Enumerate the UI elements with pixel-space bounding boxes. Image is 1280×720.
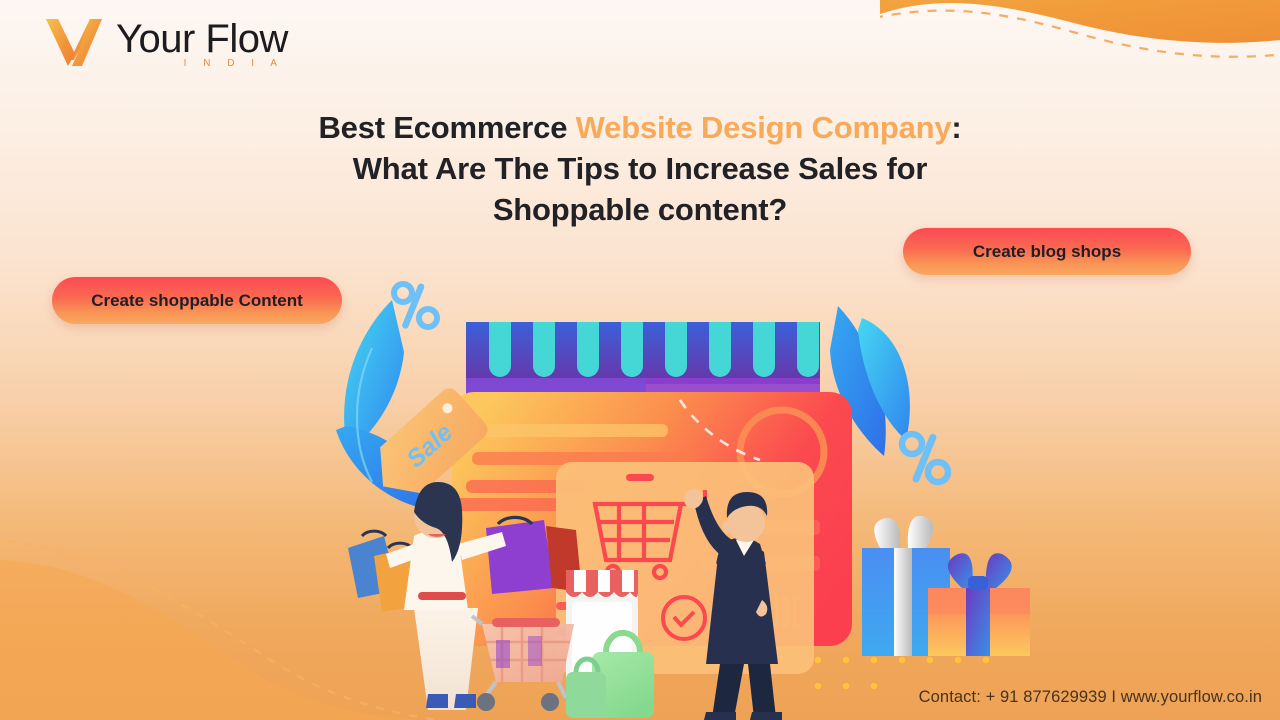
cta-create-shoppable-content[interactable]: Create shoppable Content	[52, 277, 342, 324]
contact-label: Contact:	[919, 688, 981, 706]
contact-phone[interactable]: + 91 877629939	[986, 688, 1107, 706]
contact-website[interactable]: www.yourflow.co.in	[1121, 688, 1262, 706]
percent-badge-left	[394, 283, 437, 330]
shopping-cart-3d	[472, 616, 574, 711]
striped-awning	[466, 322, 820, 394]
dot-grid-decoration	[815, 657, 989, 689]
gift-boxes	[862, 516, 1030, 656]
cta-create-blog-shops[interactable]: Create blog shops	[903, 228, 1191, 275]
marketing-banner: Your Flow I N D I A Best Ecommerce Websi…	[0, 0, 1280, 720]
ecommerce-illustration: Sale	[0, 0, 1280, 720]
percent-badge-right	[902, 433, 948, 484]
contact-footer: Contact: + 91 877629939 I www.yourflow.c…	[919, 688, 1262, 707]
contact-separator: I	[1111, 688, 1116, 706]
